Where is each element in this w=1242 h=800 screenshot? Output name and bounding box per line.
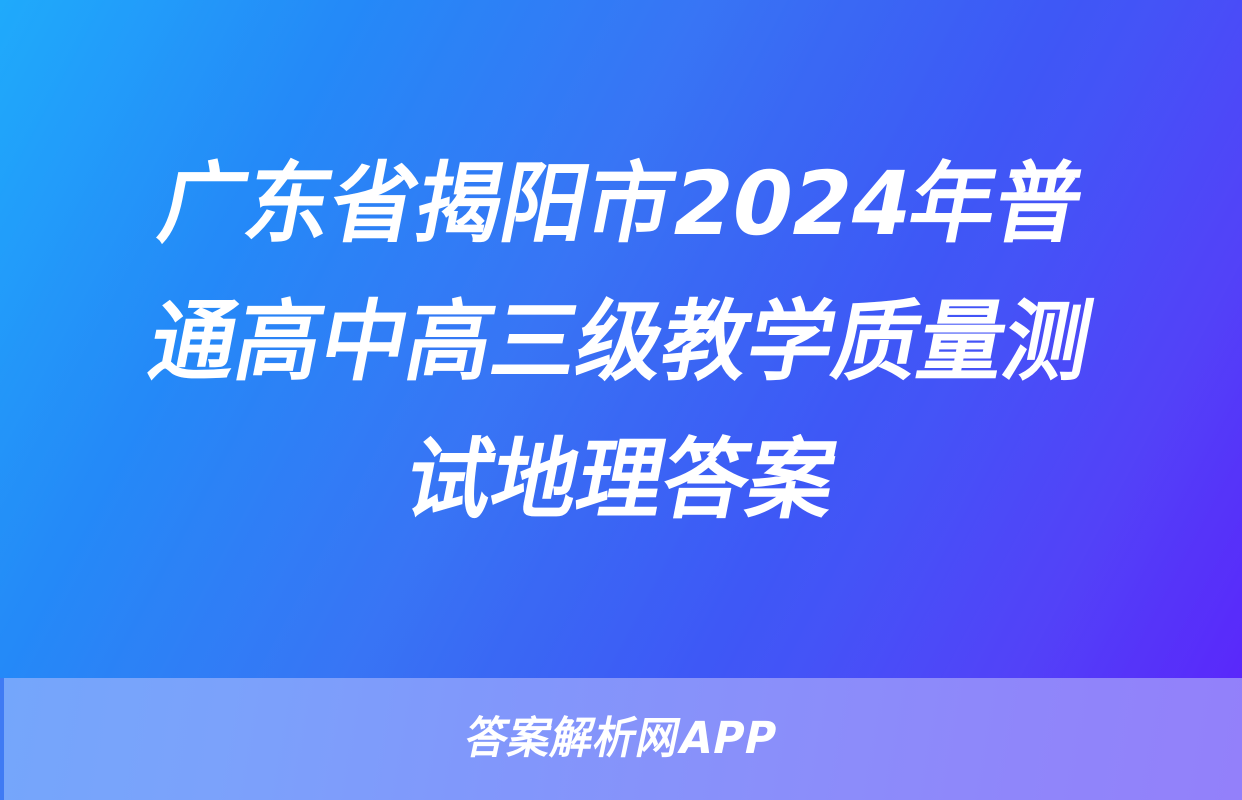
title-line-2: 通高中高三级教学质量测: [138, 273, 1104, 411]
watermark-app-label: 答案解析网APP: [461, 715, 781, 763]
poster-canvas: 广东省揭阳市2024年普 通高中高三级教学质量测 试地理答案 答案解析网APP: [0, 0, 1242, 800]
poster-title-block: 广东省揭阳市2024年普 通高中高三级教学质量测 试地理答案: [0, 0, 1242, 678]
footer-watermark-band: 答案解析网APP: [0, 678, 1242, 800]
title-line-1: 广东省揭阳市2024年普: [147, 135, 1094, 273]
footer-left-edge-accent: [0, 678, 4, 800]
title-line-3: 试地理答案: [394, 411, 848, 549]
